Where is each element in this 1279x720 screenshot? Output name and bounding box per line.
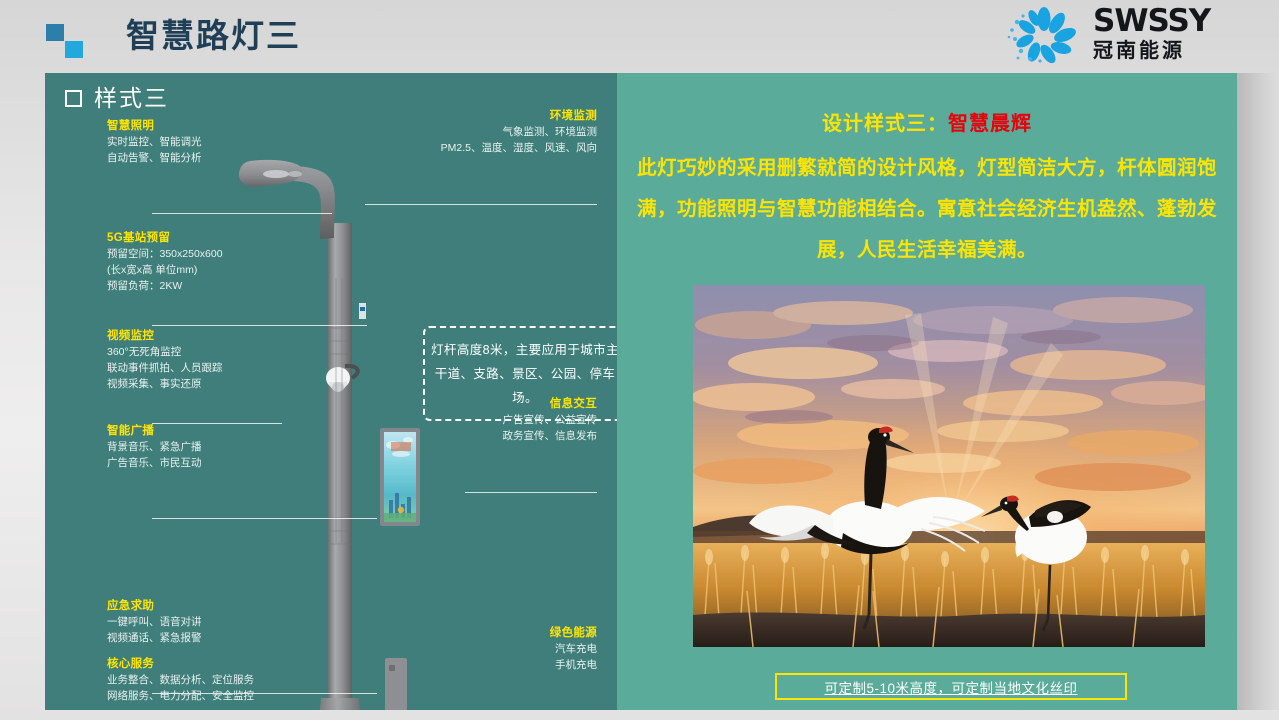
- feature-line: 视频通话、紧急报警: [107, 630, 202, 646]
- leader-line: [365, 204, 597, 205]
- feature-block-lighting: 智慧照明 实时监控、智能调光 自动告警、智能分析: [107, 119, 202, 166]
- feature-line: 实时监控、智能调光: [107, 134, 202, 150]
- feature-block-video: 视频监控 360°无死角监控 联动事件抓拍、人员跟踪 视频采集、事实还原: [107, 329, 223, 392]
- feature-line: 手机充电: [377, 657, 597, 673]
- feature-block-environment: 环境监测 气象监测、环境监测 PM2.5、温度、湿度、风速、风向: [347, 109, 597, 156]
- feature-line: 预留负荷：2KW: [107, 278, 223, 294]
- feature-title: 5G基站预留: [107, 231, 223, 246]
- style-heading-label: 样式三: [94, 85, 169, 111]
- feature-line: 视频采集、事实还原: [107, 376, 223, 392]
- feature-line: (长x宽x高 单位mm): [107, 262, 223, 278]
- feature-title: 智能广播: [107, 424, 202, 439]
- feature-line: 政务宣传、信息发布: [377, 428, 597, 444]
- left-content-panel: 样式三: [45, 73, 617, 710]
- feature-title: 绿色能源: [377, 626, 597, 641]
- feature-line: 背景音乐、紧急广播: [107, 439, 202, 455]
- feature-line: 一键呼叫、语音对讲: [107, 614, 202, 630]
- style-heading: 样式三: [65, 85, 169, 111]
- logo-brand-cn-text: 冠南能源: [1093, 39, 1261, 63]
- square-light-icon: [65, 41, 83, 58]
- slide-header: 智慧路灯三: [0, 0, 1279, 70]
- leader-line: [152, 325, 367, 326]
- flower-drops-logo-icon: [1001, 6, 1087, 64]
- feature-title: 核心服务: [107, 657, 254, 672]
- feature-block-emergency: 应急求助 一键呼叫、语音对讲 视频通话、紧急报警: [107, 599, 202, 646]
- feature-title: 环境监测: [347, 109, 597, 124]
- feature-line: 自动告警、智能分析: [107, 150, 202, 166]
- right-content-panel: 设计样式三：智慧晨辉 此灯巧妙的采用删繁就简的设计风格，灯型简洁大方，杆体圆润饱…: [617, 73, 1237, 710]
- design-style-title-name: 智慧晨辉: [948, 113, 1032, 135]
- leader-line: [465, 492, 597, 493]
- decorative-squares-icon: [46, 24, 86, 58]
- crane-sunset-photo: [693, 285, 1205, 647]
- design-description: 此灯巧妙的采用删繁就简的设计风格，灯型简洁大方，杆体圆润饱满，功能照明与智慧功能…: [635, 148, 1219, 271]
- right-gutter: [1237, 73, 1279, 710]
- feature-line: 网络服务、电力分配、安全监控: [107, 688, 254, 704]
- feature-block-5g: 5G基站预留 预留空间：350x250x600 (长x宽x高 单位mm) 预留负…: [107, 231, 223, 294]
- customization-note-text: 可定制5-10米高度，可定制当地文化丝印: [824, 677, 1077, 697]
- height-callout-box: 灯杆高度8米，主要应用于城市主干道、支路、景区、公园、停车场。: [423, 326, 627, 421]
- design-style-title: 设计样式三：智慧晨辉: [617, 111, 1237, 137]
- logo-brand-text: SWSSY: [1093, 4, 1261, 38]
- page-title: 智慧路灯三: [126, 16, 301, 56]
- height-callout-text: 灯杆高度8米，主要应用于城市主干道、支路、景区、公园、停车场。: [425, 338, 625, 410]
- logo-wordmark: SWSSY 冠南能源: [1093, 4, 1261, 63]
- customization-note-box: 可定制5-10米高度，可定制当地文化丝印: [775, 673, 1127, 700]
- feature-title: 视频监控: [107, 329, 223, 344]
- square-dark-icon: [46, 24, 64, 41]
- feature-line: 汽车充电: [377, 641, 597, 657]
- feature-line: 业务整合、数据分析、定位服务: [107, 672, 254, 688]
- feature-line: PM2.5、温度、湿度、风速、风向: [347, 140, 597, 156]
- feature-line: 360°无死角监控: [107, 344, 223, 360]
- feature-block-broadcast: 智能广播 背景音乐、紧急广播 广告音乐、市民互动: [107, 424, 202, 471]
- design-style-title-prefix: 设计样式三：: [822, 113, 948, 135]
- feature-title: 智慧照明: [107, 119, 202, 134]
- feature-line: 广告音乐、市民互动: [107, 455, 202, 471]
- leader-line: [152, 213, 332, 214]
- feature-title: 应急求助: [107, 599, 202, 614]
- leader-line: [152, 518, 377, 519]
- square-outline-icon: [65, 90, 82, 107]
- feature-block-green-energy: 绿色能源 汽车充电 手机充电: [377, 626, 597, 673]
- feature-line: 气象监测、环境监测: [347, 124, 597, 140]
- company-logo: SWSSY 冠南能源: [1001, 4, 1261, 66]
- feature-block-core-service: 核心服务 业务整合、数据分析、定位服务 网络服务、电力分配、安全监控: [107, 657, 254, 704]
- feature-line: 预留空间：350x250x600: [107, 246, 223, 262]
- feature-line: 联动事件抓拍、人员跟踪: [107, 360, 223, 376]
- presentation-slide: 智慧路灯三: [0, 0, 1279, 720]
